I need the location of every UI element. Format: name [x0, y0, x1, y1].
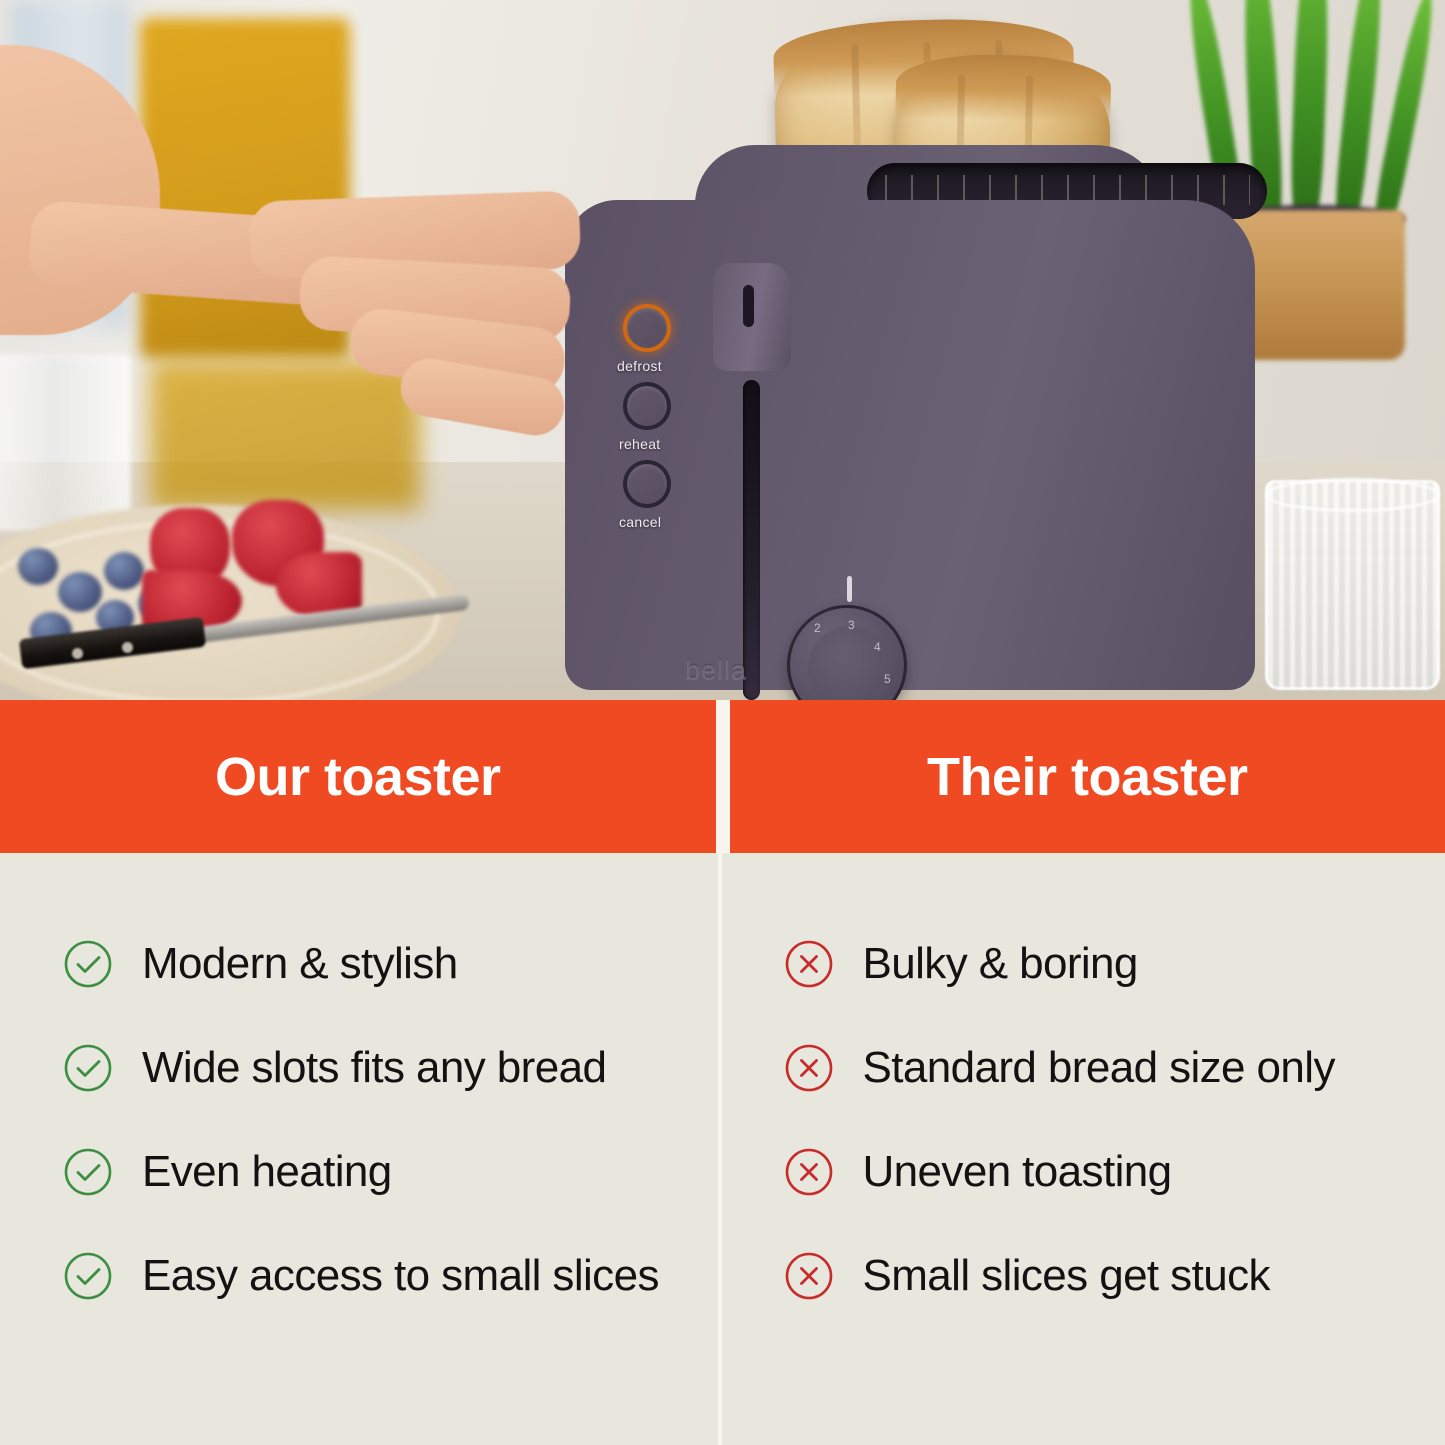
- blueberry: [104, 552, 144, 590]
- list-item: Wide slots fits any bread: [62, 1042, 705, 1094]
- list-item: Small slices get stuck: [783, 1250, 1426, 1302]
- reheat-button[interactable]: [623, 382, 671, 430]
- list-item-label: Bulky & boring: [863, 939, 1138, 989]
- x-circle-icon: [783, 1146, 835, 1198]
- list-item: Easy access to small slices: [62, 1250, 705, 1302]
- toaster: defrost reheat cancel bella 2 3 4 5: [565, 145, 1255, 700]
- knife-rivet: [122, 642, 133, 653]
- blueberry: [58, 572, 102, 612]
- list-item-label: Even heating: [142, 1147, 392, 1197]
- x-circle-icon: [783, 938, 835, 990]
- theirs-feature-list: Bulky & boring Standard bread size only …: [725, 853, 1445, 1445]
- comparison-lists: Modern & stylish Wide slots fits any bre…: [0, 853, 1445, 1445]
- dial-pointer: [847, 576, 852, 602]
- list-item-label: Small slices get stuck: [863, 1251, 1270, 1301]
- list-item: Uneven toasting: [783, 1146, 1426, 1198]
- list-item-label: Modern & stylish: [142, 939, 458, 989]
- check-circle-icon: [62, 1042, 114, 1094]
- carriage-lever-handle[interactable]: [713, 263, 791, 371]
- list-item: Modern & stylish: [62, 938, 705, 990]
- defrost-button-label: defrost: [617, 358, 662, 374]
- toaster-body: defrost reheat cancel bella 2 3 4 5: [565, 200, 1255, 690]
- header-divider: [716, 700, 730, 853]
- header-theirs-title: Their toaster: [927, 746, 1248, 808]
- dial-inner: [808, 626, 892, 700]
- list-item: Standard bread size only: [783, 1042, 1426, 1094]
- toast-crust: [895, 53, 1111, 123]
- drinking-glass-rim: [1265, 478, 1440, 512]
- defrost-button[interactable]: [623, 304, 671, 352]
- hero-product-photo: defrost reheat cancel bella 2 3 4 5: [0, 0, 1445, 700]
- header-ours-title: Our toaster: [215, 746, 501, 808]
- list-item: Bulky & boring: [783, 938, 1426, 990]
- knife-rivet: [72, 648, 83, 659]
- brand-logo: bella: [685, 655, 747, 686]
- check-circle-icon: [62, 1250, 114, 1302]
- check-circle-icon: [62, 1146, 114, 1198]
- list-item-label: Wide slots fits any bread: [142, 1043, 606, 1093]
- list-item-label: Standard bread size only: [863, 1043, 1335, 1093]
- carriage-lever-track: [743, 380, 760, 700]
- dial-tick-2: 2: [814, 621, 821, 635]
- reheat-button-label: reheat: [619, 436, 661, 452]
- blurred-yellow-container-lower: [150, 360, 420, 510]
- lever-slit: [743, 285, 754, 327]
- product-comparison-infographic: defrost reheat cancel bella 2 3 4 5: [0, 0, 1445, 1445]
- x-circle-icon: [783, 1250, 835, 1302]
- blurred-glass-left: [0, 355, 130, 530]
- header-theirs: Their toaster: [730, 700, 1445, 853]
- cancel-button[interactable]: [623, 460, 671, 508]
- check-circle-icon: [62, 938, 114, 990]
- header-ours: Our toaster: [0, 700, 716, 853]
- blueberry: [18, 548, 58, 585]
- dial-tick-3: 3: [848, 618, 855, 632]
- cancel-button-label: cancel: [619, 514, 661, 530]
- comparison-headers: Our toaster Their toaster: [0, 700, 1445, 853]
- list-item-label: Easy access to small slices: [142, 1251, 659, 1301]
- list-item-label: Uneven toasting: [863, 1147, 1172, 1197]
- column-divider: [718, 853, 722, 1445]
- dial-tick-4: 4: [874, 640, 881, 654]
- dial-tick-5: 5: [884, 672, 891, 686]
- ours-feature-list: Modern & stylish Wide slots fits any bre…: [0, 853, 725, 1445]
- browning-dial[interactable]: 2 3 4 5: [787, 605, 907, 700]
- list-item: Even heating: [62, 1146, 705, 1198]
- x-circle-icon: [783, 1042, 835, 1094]
